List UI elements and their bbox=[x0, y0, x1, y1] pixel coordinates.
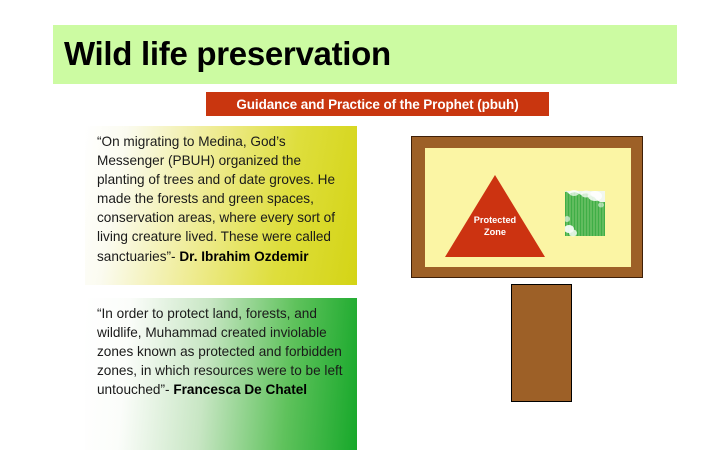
sign-post-icon bbox=[511, 284, 572, 402]
quote-box-1: “On migrating to Medina, God’s Messenger… bbox=[85, 126, 357, 285]
foliage-icon bbox=[565, 189, 605, 237]
quote-1-text: “On migrating to Medina, God’s Messenger… bbox=[97, 132, 347, 266]
triangle-label: Protected Zone bbox=[445, 215, 545, 238]
quote-2-text: “In order to protect land, forests, and … bbox=[97, 304, 347, 399]
warning-triangle-icon: Protected Zone bbox=[445, 175, 545, 257]
title-banner: Wild life preservation bbox=[53, 25, 677, 84]
protected-zone-sign-graphic: Protected Zone bbox=[411, 136, 661, 401]
subtitle-text: Guidance and Practice of the Prophet (pb… bbox=[236, 97, 518, 112]
quote-1-attribution: Dr. Ibrahim Ozdemir bbox=[179, 249, 308, 264]
quote-2-attribution: Francesca De Chatel bbox=[173, 382, 307, 397]
quote-box-2: “In order to protect land, forests, and … bbox=[85, 298, 357, 450]
quote-1-body: “On migrating to Medina, God’s Messenger… bbox=[97, 134, 335, 264]
slide-canvas: Wild life preservation Guidance and Prac… bbox=[0, 0, 728, 459]
sign-panel: Protected Zone bbox=[425, 148, 631, 267]
subtitle-banner: Guidance and Practice of the Prophet (pb… bbox=[206, 92, 549, 116]
triangle-label-line2: Zone bbox=[445, 227, 545, 239]
triangle-label-line1: Protected bbox=[445, 215, 545, 227]
page-title: Wild life preservation bbox=[64, 28, 391, 80]
sign-frame: Protected Zone bbox=[411, 136, 643, 278]
